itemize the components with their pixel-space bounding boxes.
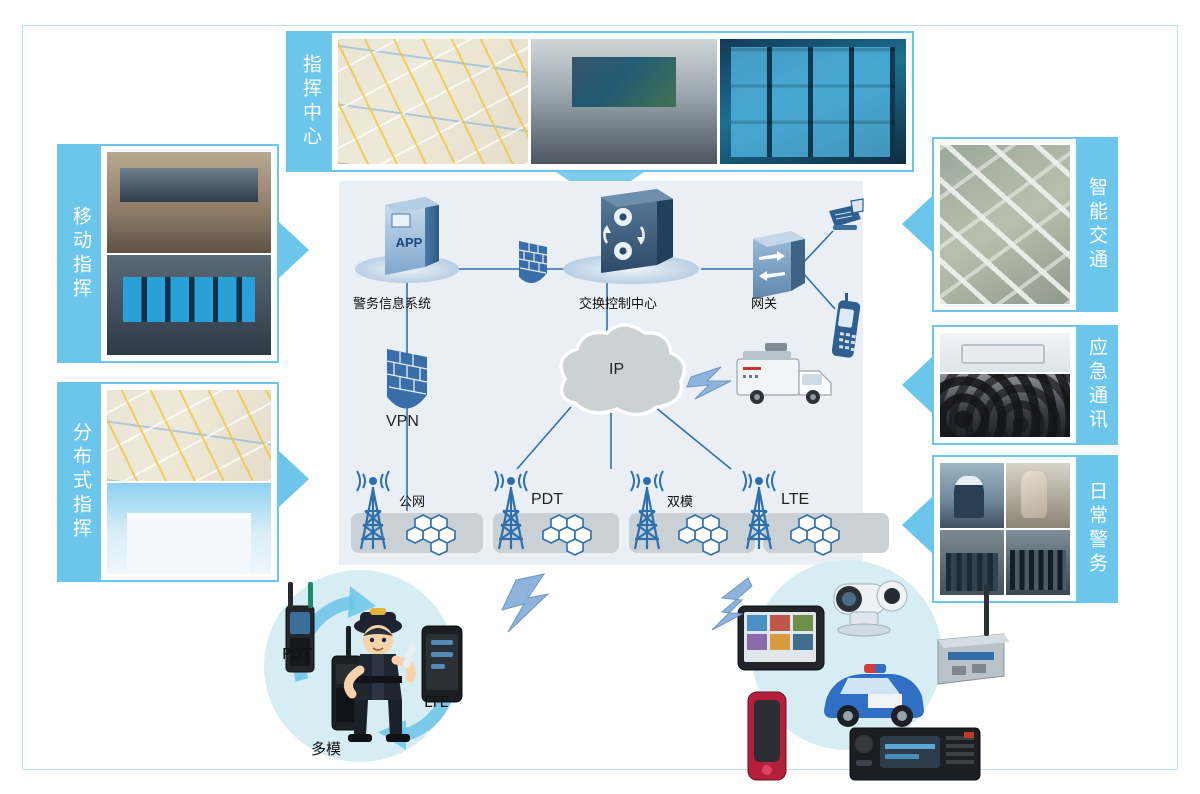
photo-riot-police-crowd bbox=[940, 374, 1070, 437]
photo-gis-incident-map bbox=[107, 390, 271, 481]
arrow-mobile-command-to-core bbox=[279, 222, 309, 278]
label-term-lte: LTE bbox=[424, 693, 449, 711]
panel-command-center[interactable]: 指挥中心 bbox=[286, 31, 914, 172]
app-server-badge: APP bbox=[396, 235, 423, 250]
label-bs-dual: 双模 bbox=[667, 491, 693, 510]
command-vehicle-icon bbox=[737, 343, 831, 404]
lightning-bolt-icon-cloud-vehicle bbox=[687, 367, 731, 399]
arrow-core-to-intelligent-transportation bbox=[902, 196, 932, 252]
label-gateway: 网关 bbox=[751, 293, 777, 312]
label-term-multi: 多模 bbox=[311, 738, 341, 759]
label-vpn: VPN bbox=[386, 413, 419, 431]
label-bs-public: 公网 bbox=[399, 491, 425, 510]
wireless-links-bottom bbox=[0, 570, 1200, 690]
photo-gis-command-map bbox=[338, 39, 528, 164]
panel-emergency-communications[interactable]: 应急通讯 bbox=[932, 325, 1118, 445]
photo-command-vehicle-interior-officers bbox=[107, 152, 271, 253]
core-network-stage: APP bbox=[339, 181, 863, 565]
photo-officer-monitoring-wall bbox=[720, 39, 906, 164]
panel-label-distributed-command: 分布式指挥 bbox=[59, 384, 101, 580]
photo-handheld-terminal-closeup bbox=[1006, 463, 1070, 528]
panel-label-emergency-communications: 应急通讯 bbox=[1076, 327, 1116, 443]
photo-command-room-videowall bbox=[531, 39, 717, 164]
label-app-server: 警务信息系统 bbox=[353, 293, 431, 312]
photo-highway-interchange-aerial bbox=[940, 145, 1070, 304]
link-cloud-lte bbox=[655, 407, 731, 469]
base-station-group bbox=[351, 471, 889, 555]
mobile-radio-icon bbox=[850, 728, 980, 780]
node-app-server: APP bbox=[355, 197, 459, 283]
mobile-phone-icon bbox=[831, 293, 861, 358]
label-switch-center: 交换控制中心 bbox=[579, 293, 657, 312]
feature-phone-icon bbox=[748, 692, 786, 780]
panel-photos-mobile-command bbox=[101, 146, 277, 361]
panel-mobile-command[interactable]: 移动指挥 bbox=[57, 144, 279, 363]
panel-intelligent-transportation[interactable]: 智能交通 bbox=[932, 137, 1118, 312]
panel-label-intelligent-transportation: 智能交通 bbox=[1076, 139, 1116, 310]
panel-photos-command-center bbox=[332, 33, 912, 170]
desk-phone-icon bbox=[829, 199, 863, 230]
panel-photos-distributed-command bbox=[101, 384, 277, 580]
panel-label-mobile-command: 移动指挥 bbox=[59, 146, 101, 361]
node-gateway bbox=[753, 231, 805, 299]
panel-distributed-command[interactable]: 分布式指挥 bbox=[57, 382, 279, 582]
lightning-bolt-icon-left bbox=[502, 574, 548, 632]
label-bs-pdt: PDT bbox=[531, 491, 563, 509]
arrow-core-to-daily-policing bbox=[902, 497, 932, 553]
vpn-shield-icon bbox=[387, 349, 427, 409]
panel-photos-emergency-communications bbox=[934, 327, 1076, 443]
link-cloud-pdt bbox=[517, 407, 571, 469]
link-gateway-mobilephone bbox=[803, 273, 835, 309]
arrow-core-to-emergency-communications bbox=[902, 357, 932, 413]
link-gateway-deskphone bbox=[803, 231, 833, 263]
node-switch-control-center bbox=[563, 189, 699, 284]
label-bs-lte: LTE bbox=[781, 491, 809, 509]
arrow-distributed-command-to-core bbox=[279, 451, 309, 507]
panel-label-command-center: 指挥中心 bbox=[288, 33, 332, 170]
panel-photos-intelligent-transportation bbox=[934, 139, 1076, 310]
photo-surveillance-camera bbox=[940, 333, 1070, 372]
photo-police-station-building bbox=[107, 483, 271, 574]
photo-mobile-command-console bbox=[107, 255, 271, 356]
firewall-shield-icon-1 bbox=[519, 241, 547, 283]
lightning-bolt-icon-right bbox=[712, 578, 752, 630]
label-ip-cloud: IP bbox=[609, 361, 624, 379]
photo-traffic-officer-handheld bbox=[940, 463, 1004, 528]
